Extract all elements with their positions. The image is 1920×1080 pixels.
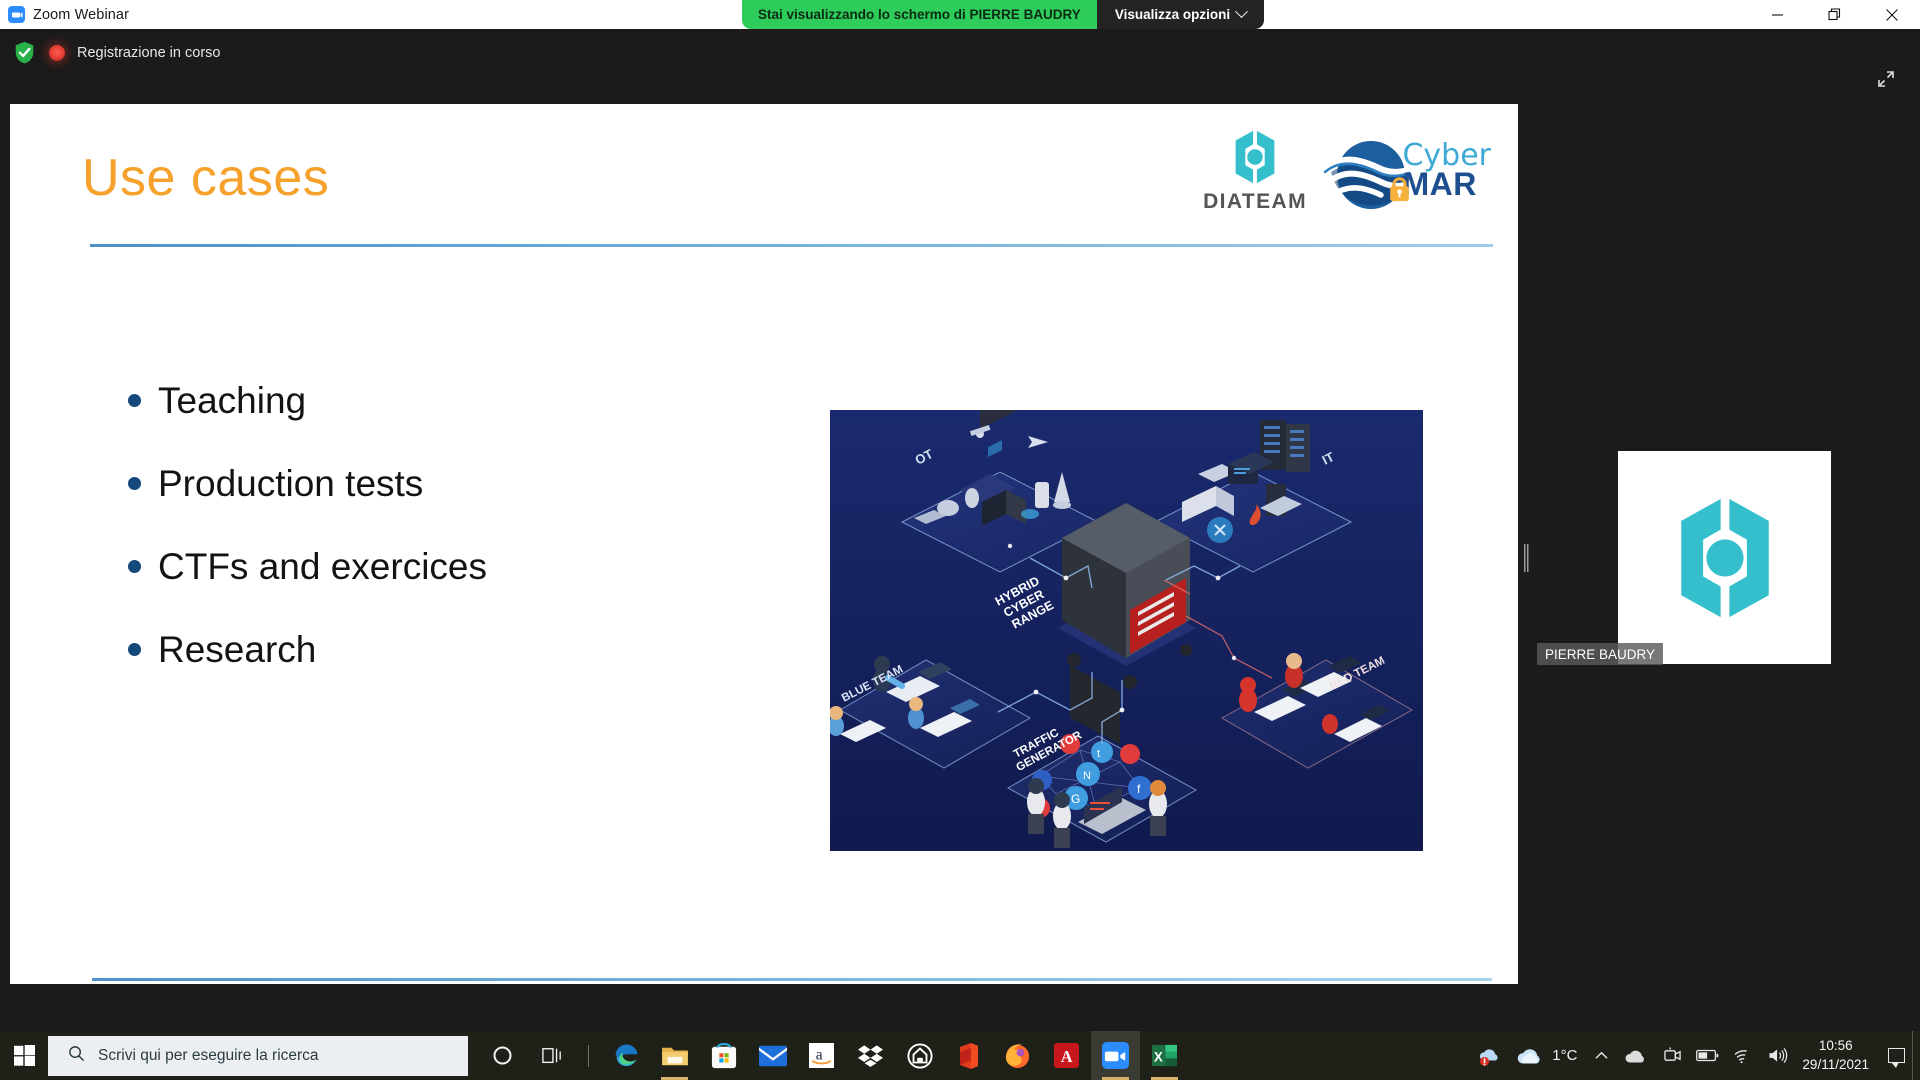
excel-icon[interactable]: X bbox=[1140, 1031, 1189, 1080]
bullet-dot-icon bbox=[128, 643, 141, 656]
diateam-hexagon-logo bbox=[1224, 126, 1286, 188]
search-placeholder: Scrivi qui per eseguire la ricerca bbox=[98, 1047, 319, 1065]
wifi-icon[interactable] bbox=[1726, 1031, 1760, 1080]
title-divider bbox=[90, 244, 1493, 247]
file-explorer-icon[interactable] bbox=[650, 1031, 699, 1080]
house-circle-icon[interactable] bbox=[895, 1031, 944, 1080]
view-options-button[interactable]: Visualizza opzioni bbox=[1097, 0, 1264, 29]
share-status-text: Stai visualizzando lo schermo di PIERRE … bbox=[742, 0, 1097, 29]
amazon-icon[interactable]: a bbox=[797, 1031, 846, 1080]
acrobat-icon[interactable]: A bbox=[1042, 1031, 1091, 1080]
thumbnail-drag-handle[interactable] bbox=[1524, 544, 1529, 572]
taskbar-divider bbox=[588, 1045, 589, 1067]
svg-text:N: N bbox=[1083, 770, 1091, 782]
office-icon[interactable] bbox=[944, 1031, 993, 1080]
battery-icon[interactable] bbox=[1689, 1031, 1726, 1080]
record-dot-icon bbox=[49, 45, 65, 61]
taskbar-pinned-icons: a bbox=[478, 1031, 1189, 1080]
bullet-label: CTFs and exercices bbox=[158, 546, 487, 588]
shared-slide: Use cases DIATEAM bbox=[10, 104, 1518, 984]
expand-fullscreen-icon[interactable] bbox=[1868, 63, 1904, 95]
bullet-dot-icon bbox=[128, 477, 141, 490]
recording-indicator: Registrazione in corso bbox=[12, 40, 220, 65]
svg-text:G: G bbox=[1071, 792, 1080, 806]
cortana-icon[interactable] bbox=[478, 1031, 527, 1080]
system-tray: 1°C bbox=[1472, 1031, 1920, 1080]
diateam-wordmark: DIATEAM bbox=[1203, 190, 1307, 214]
view-options-label: Visualizza opzioni bbox=[1115, 7, 1230, 22]
screen-share-banner: Stai visualizzando lo schermo di PIERRE … bbox=[742, 0, 1264, 29]
bullet-label: Teaching bbox=[158, 380, 306, 422]
chevron-down-icon bbox=[1235, 5, 1248, 18]
cloud-sync-icon[interactable] bbox=[1616, 1031, 1656, 1080]
bullet-dot-icon bbox=[128, 394, 141, 407]
participant-video-thumbnail[interactable] bbox=[1618, 451, 1831, 664]
firefox-icon[interactable] bbox=[993, 1031, 1042, 1080]
bullet-dot-icon bbox=[128, 560, 141, 573]
list-item: Production tests bbox=[128, 442, 487, 525]
show-desktop-button[interactable] bbox=[1912, 1031, 1920, 1080]
hybrid-cyber-range-diagram: OT bbox=[830, 410, 1423, 851]
camera-icon[interactable] bbox=[1656, 1031, 1689, 1080]
notification-icon[interactable] bbox=[1881, 1031, 1912, 1080]
svg-text:t: t bbox=[1097, 748, 1100, 760]
search-icon bbox=[68, 1045, 85, 1067]
svg-text:X: X bbox=[1154, 1049, 1163, 1064]
clock-time: 10:56 bbox=[1802, 1037, 1869, 1055]
taskbar-search[interactable]: Scrivi qui per eseguire la ricerca bbox=[48, 1036, 468, 1076]
diateam-hexagon-logo bbox=[1655, 488, 1795, 628]
page-title: Use cases bbox=[82, 148, 329, 208]
list-item: CTFs and exercices bbox=[128, 525, 487, 608]
cybermar-wordmark: Cyber MAR bbox=[1402, 142, 1491, 199]
zoom-meeting-window: Registrazione in corso Use cases DIATEA bbox=[0, 29, 1920, 1051]
microsoft-store-icon[interactable] bbox=[699, 1031, 748, 1080]
restore-button[interactable] bbox=[1806, 0, 1863, 29]
windows-taskbar: Scrivi qui per eseguire la ricerca bbox=[0, 1031, 1920, 1080]
svg-text:A: A bbox=[1061, 1047, 1073, 1066]
clock-date: 29/11/2021 bbox=[1802, 1056, 1869, 1074]
list-item: Teaching bbox=[128, 359, 487, 442]
minimize-button[interactable] bbox=[1749, 0, 1806, 29]
participant-name-label: PIERRE BAUDRY bbox=[1537, 643, 1663, 665]
cloud-icon[interactable] bbox=[1508, 1031, 1552, 1080]
dropbox-icon[interactable] bbox=[846, 1031, 895, 1080]
title-bar-left: Zoom Webinar bbox=[0, 6, 129, 23]
window-title: Zoom Webinar bbox=[33, 7, 129, 23]
taskbar-clock[interactable]: 10:56 29/11/2021 bbox=[1796, 1037, 1881, 1073]
list-item: Research bbox=[128, 608, 487, 691]
close-button[interactable] bbox=[1863, 0, 1920, 29]
speaker-icon[interactable] bbox=[1760, 1031, 1796, 1080]
chevron-up-icon[interactable] bbox=[1587, 1031, 1616, 1080]
recording-label: Registrazione in corso bbox=[77, 45, 220, 61]
shield-check-icon[interactable] bbox=[12, 40, 37, 65]
bullet-list: Teaching Production tests CTFs and exerc… bbox=[128, 359, 487, 691]
zoom-camera-icon bbox=[8, 6, 25, 23]
zoom-icon[interactable] bbox=[1091, 1031, 1140, 1080]
window-controls bbox=[1749, 0, 1920, 29]
padlock-icon bbox=[1387, 176, 1412, 202]
weather-temperature[interactable]: 1°C bbox=[1552, 1047, 1587, 1064]
task-view-icon[interactable] bbox=[527, 1031, 576, 1080]
bullet-label: Research bbox=[158, 629, 316, 671]
cybermar-line2: MAR bbox=[1402, 170, 1491, 199]
cybermar-logo: Cyber MAR bbox=[1321, 136, 1491, 214]
windows-start-icon[interactable] bbox=[0, 1031, 48, 1080]
bullet-label: Production tests bbox=[158, 463, 423, 505]
diateam-logo: DIATEAM bbox=[1203, 126, 1307, 214]
footer-divider bbox=[92, 978, 1492, 981]
onedrive-alert-icon[interactable] bbox=[1472, 1031, 1508, 1080]
svg-text:a: a bbox=[816, 1046, 823, 1063]
mail-icon[interactable] bbox=[748, 1031, 797, 1080]
slide-logos: DIATEAM Cyber MAR bbox=[1203, 126, 1491, 214]
edge-icon[interactable] bbox=[601, 1031, 650, 1080]
